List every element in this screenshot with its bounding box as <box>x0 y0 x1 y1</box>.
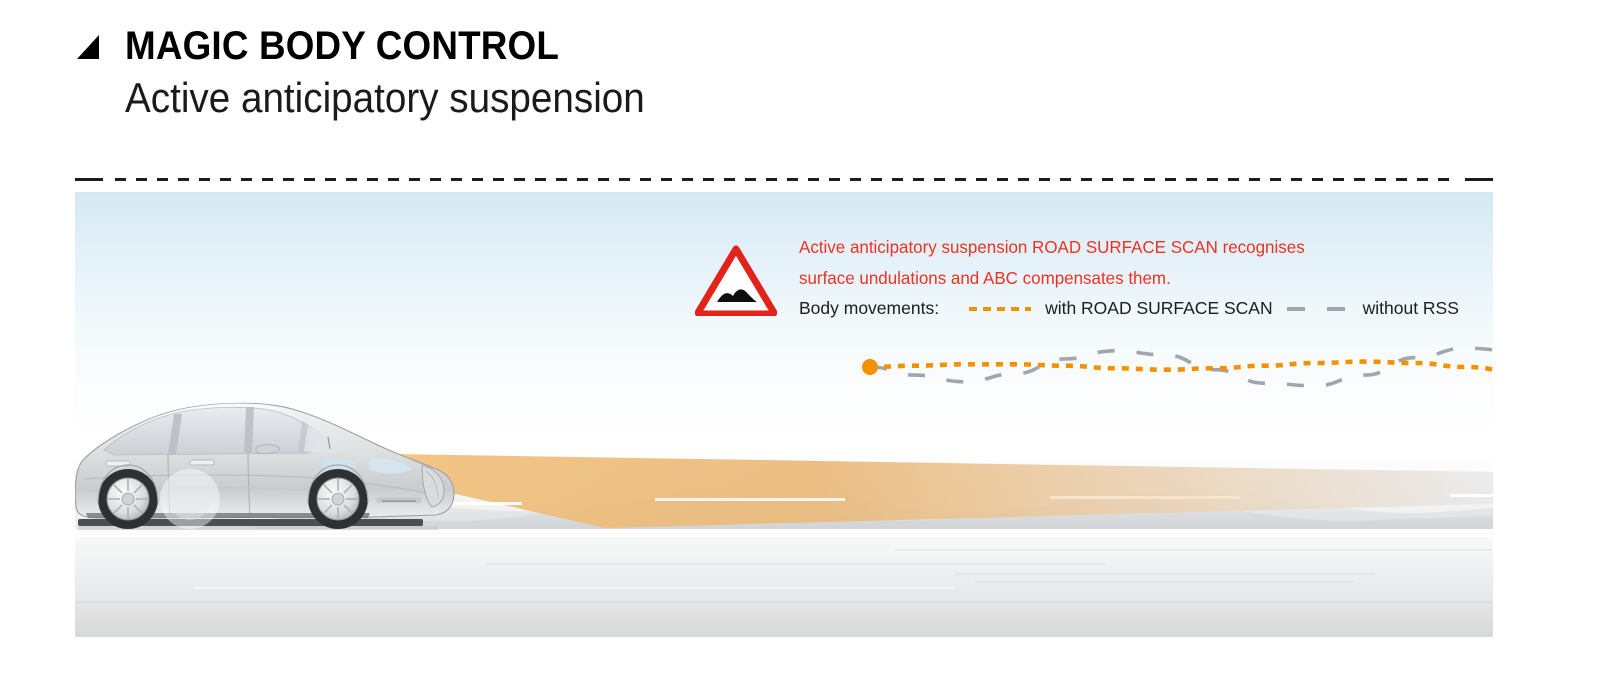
legend-label-with-rss: with ROAD SURFACE SCAN <box>1045 298 1273 319</box>
foreground-road <box>75 529 1493 637</box>
legend-label-without-rss: without RSS <box>1363 298 1459 319</box>
callout-line-1: Active anticipatory suspension ROAD SURF… <box>799 232 1439 263</box>
legend-label: Body movements: <box>799 298 939 319</box>
divider-cap-right <box>1465 178 1493 181</box>
mercedes-sedan-side-view-icon <box>75 387 480 537</box>
title-row: MAGIC BODY CONTROL <box>75 24 1075 68</box>
body-movement-chart <box>765 332 1485 402</box>
callout-text: Active anticipatory suspension ROAD SURF… <box>799 232 1459 319</box>
triangle-marker-icon <box>75 31 105 61</box>
bumpy-road-warning-sign-icon <box>695 244 777 316</box>
illustration-panel: Active anticipatory suspension ROAD SURF… <box>75 192 1493 637</box>
header: MAGIC BODY CONTROL Active anticipatory s… <box>75 24 1075 122</box>
infographic-root: MAGIC BODY CONTROL Active anticipatory s… <box>0 0 1600 680</box>
page-subtitle: Active anticipatory suspension <box>125 74 999 122</box>
curve-without-rss <box>870 348 1493 386</box>
callout: Active anticipatory suspension ROAD SURF… <box>695 232 1485 319</box>
curve-with-rss <box>870 362 1493 373</box>
divider <box>75 178 1493 181</box>
legend: Body movements: with ROAD SURFACE SCAN w… <box>799 298 1459 319</box>
page-title: MAGIC BODY CONTROL <box>125 24 559 68</box>
divider-dashes <box>115 178 1453 181</box>
callout-line-2: surface undulations and ABC compensates … <box>799 263 1439 294</box>
wheel-rear <box>98 469 158 529</box>
legend-swatch-with-rss <box>969 307 1031 311</box>
divider-cap-left <box>75 178 103 181</box>
wheel-front <box>308 469 368 529</box>
legend-swatch-without-rss <box>1287 307 1349 311</box>
